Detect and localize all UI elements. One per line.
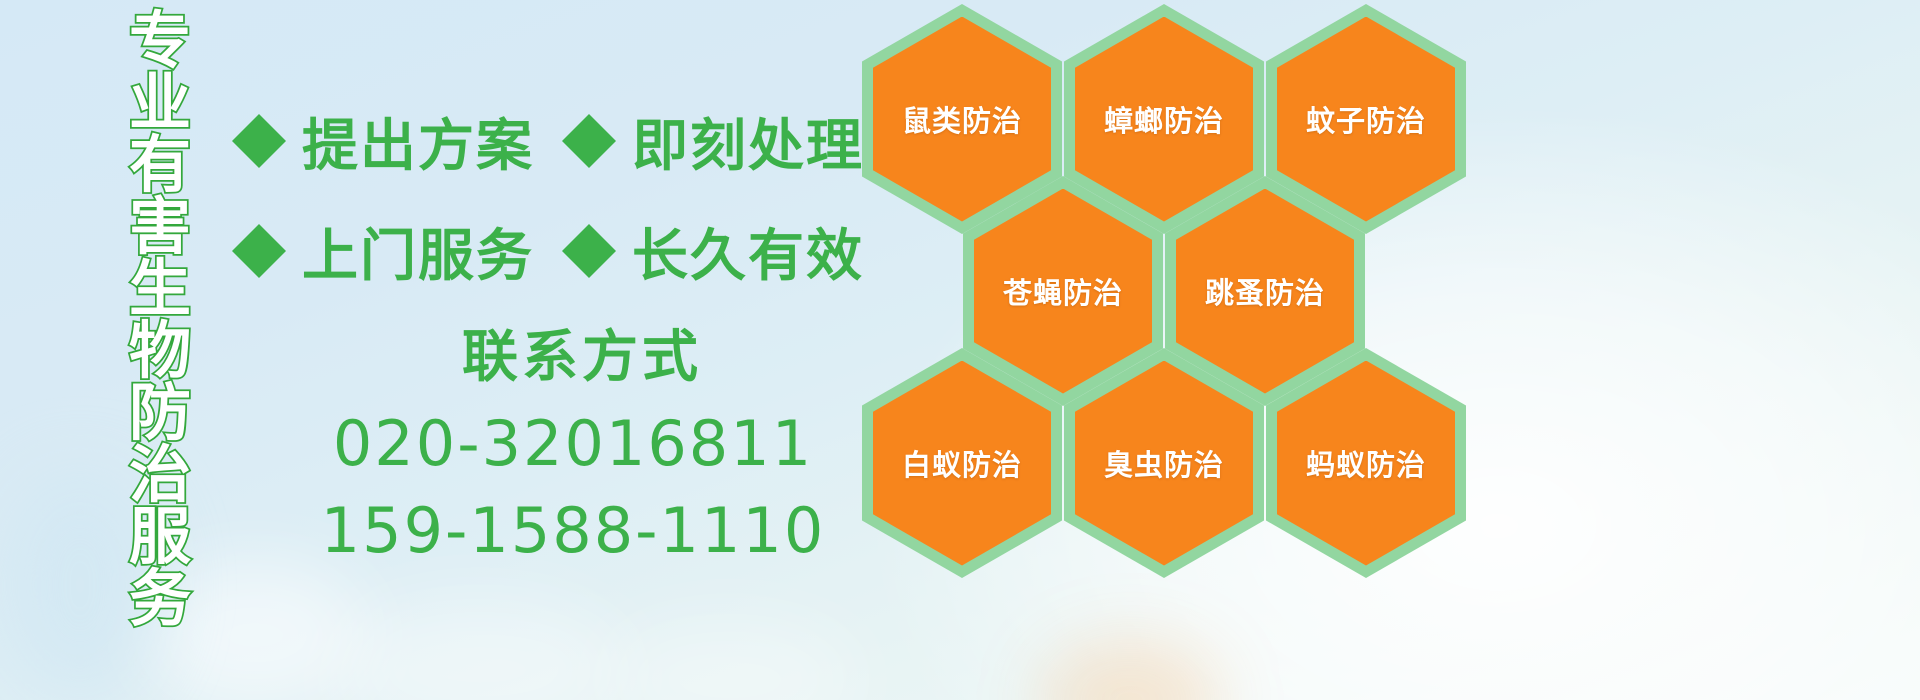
feature-row: 提出方案 即刻处理 [232, 86, 872, 196]
feature-row: 上门服务 长久有效 [232, 196, 872, 306]
vertical-headline-char: 业 [129, 72, 191, 134]
contact-label: 联系方式 [292, 312, 872, 393]
diamond-bullet-icon [232, 197, 286, 251]
service-hex-inner: 蟑螂防治 [1075, 17, 1253, 222]
vertical-headline-char: 防 [129, 382, 191, 444]
diamond-bullet-icon [562, 87, 616, 141]
service-hex-label: 鼠类防治 [902, 98, 1022, 140]
feature-label: 上门服务 [302, 211, 534, 292]
service-hex-label: 臭虫防治 [1104, 442, 1224, 484]
vertical-headline-char: 服 [129, 506, 191, 568]
diamond-bullet-icon [232, 87, 286, 141]
diamond-bullet-icon [562, 197, 616, 251]
feature-label: 提出方案 [302, 101, 534, 182]
service-honeycomb: 鼠类防治 蟑螂防治 蚊子防治 苍蝇防治 跳蚤防治 白蚁防治 [862, 0, 1462, 576]
vertical-headline-char: 生 [129, 258, 191, 320]
service-hex-label: 跳蚤防治 [1205, 270, 1325, 312]
vertical-headline-char: 专 [129, 10, 191, 72]
vertical-headline-char: 治 [129, 444, 191, 506]
vertical-headline-char: 物 [129, 320, 191, 382]
service-hex-inner: 白蚁防治 [873, 361, 1051, 566]
service-hex-label: 蚂蚁防治 [1306, 442, 1426, 484]
feature-label: 即刻处理 [632, 101, 864, 182]
service-hex-inner: 蚊子防治 [1277, 17, 1455, 222]
phone-mobile[interactable]: 159-1588-1110 [274, 494, 872, 567]
service-hex-label: 蚊子防治 [1306, 98, 1426, 140]
feature-item: 提出方案 [232, 101, 534, 182]
service-hex-inner: 鼠类防治 [873, 17, 1051, 222]
service-hex-inner: 跳蚤防治 [1176, 189, 1354, 394]
feature-list: 提出方案 即刻处理 上门服务 长久有效 [232, 86, 872, 306]
vertical-headline-char: 害 [129, 196, 191, 258]
feature-item: 即刻处理 [562, 101, 864, 182]
vertical-headline-char: 务 [129, 568, 191, 630]
background-glow-5 [1040, 640, 1220, 700]
pest-control-banner: 专 业 有 害 生 物 防 治 服 务 提出方案 即刻处理 上门服务 [0, 0, 1920, 700]
vertical-headline: 专 业 有 害 生 物 防 治 服 务 [112, 10, 208, 570]
feature-item: 长久有效 [562, 211, 864, 292]
contact-block: 联系方式 020-32016811 159-1588-1110 [232, 312, 872, 567]
phone-landline[interactable]: 020-32016811 [274, 407, 872, 480]
background-glow-2 [330, 600, 630, 700]
feature-label: 长久有效 [632, 211, 864, 292]
vertical-headline-char: 有 [129, 134, 191, 196]
service-hex-inner: 蚂蚁防治 [1277, 361, 1455, 566]
service-hex-label: 蟑螂防治 [1104, 98, 1224, 140]
service-hex-inner: 苍蝇防治 [974, 189, 1152, 394]
feature-item: 上门服务 [232, 211, 534, 292]
service-hex-inner: 臭虫防治 [1075, 361, 1253, 566]
background-glow-3 [600, 620, 860, 700]
service-hex-label: 白蚁防治 [902, 442, 1022, 484]
service-hex-label: 苍蝇防治 [1003, 270, 1123, 312]
